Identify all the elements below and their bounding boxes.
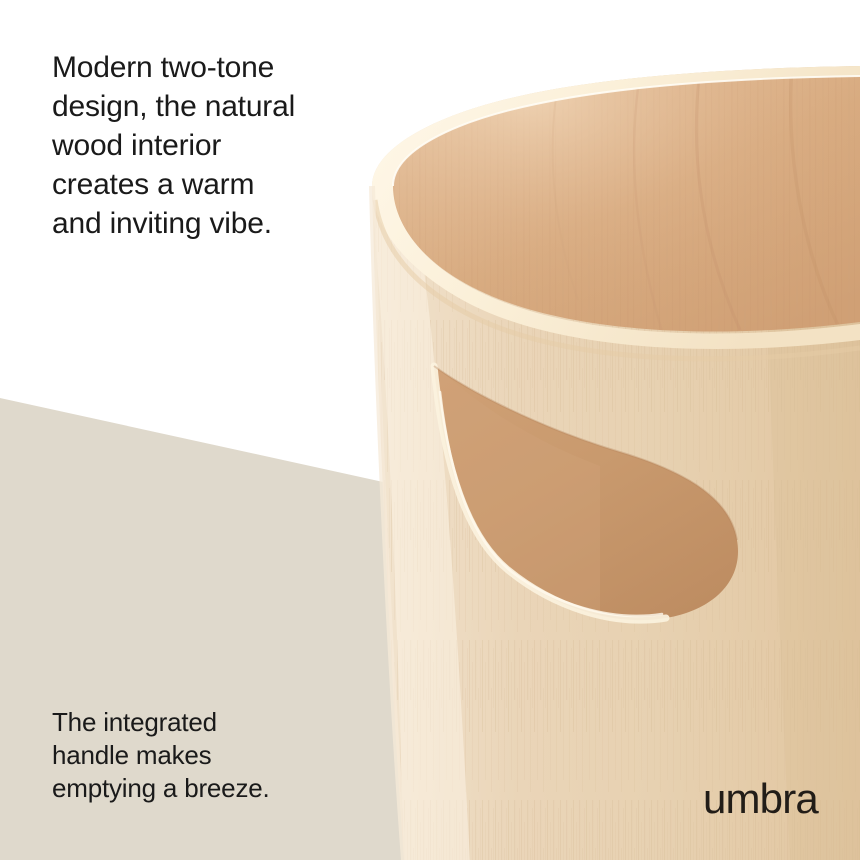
headline-top: Modern two-tone design, the natural wood…	[52, 48, 295, 243]
brand-wordmark-umbra: umbra	[703, 778, 818, 820]
headline-bottom: The integrated handle makes emptying a b…	[52, 706, 270, 805]
product-marketing-image: Modern two-tone design, the natural wood…	[0, 0, 860, 860]
